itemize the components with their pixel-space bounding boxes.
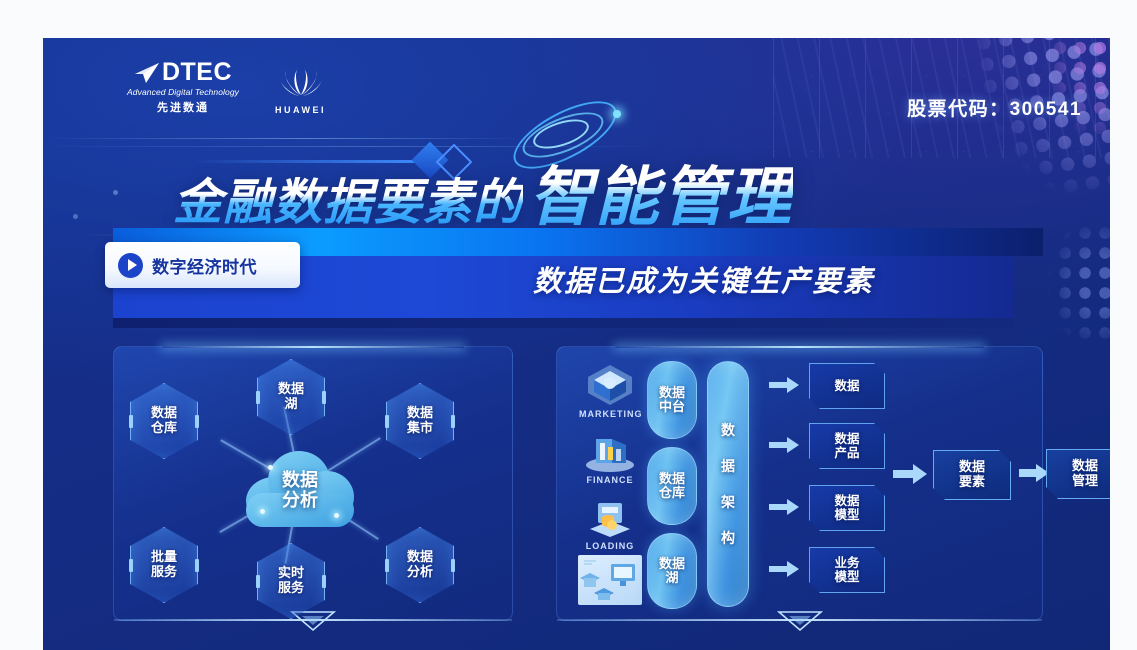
platform-label-line1: 数据 — [659, 385, 685, 400]
panel-chevron-icon — [777, 611, 823, 633]
node-label-line1: 实时 — [278, 565, 304, 580]
section-tag-label: 数字经济时代 — [152, 253, 257, 278]
spine-char-2: 据 — [721, 456, 735, 476]
dtec-logo: DTEC Advanced Digital Technology 先进数通 — [127, 60, 239, 115]
page-title: 金融数据要素的 智能管理 — [173, 146, 793, 238]
source-workstation[interactable] — [577, 555, 643, 607]
source-finance[interactable]: FINANCE — [579, 429, 641, 485]
dtec-tagline: Advanced Digital Technology — [127, 87, 239, 97]
node-label-line1: 数据 — [407, 405, 433, 420]
chain-label-line1: 数据 — [1072, 458, 1098, 473]
node-label-line1: 数据 — [407, 549, 433, 564]
presentation-slide: DTEC Advanced Digital Technology 先进数通 HU… — [43, 38, 1110, 650]
output-data-product[interactable]: 数据 产品 — [809, 423, 885, 469]
chain-label-line1: 数据 — [959, 459, 985, 474]
spine-char-1: 数 — [721, 420, 735, 440]
title-part-emphasis: 智能管理 — [529, 146, 793, 238]
source-caption: LOADING — [579, 541, 641, 551]
spine-char-3: 架 — [721, 492, 735, 512]
source-caption: MARKETING — [579, 409, 641, 419]
output-data[interactable]: 数据 — [809, 363, 885, 409]
output-business-model[interactable]: 业务 模型 — [809, 547, 885, 593]
output-label-line1: 数据 — [834, 494, 859, 508]
chain-box-data-management[interactable]: 数据 管理 — [1046, 449, 1110, 499]
banner-shadow — [113, 318, 1013, 328]
source-marketing[interactable]: MARKETING — [579, 363, 641, 419]
flow-arrow-icon — [769, 497, 799, 517]
output-data-model[interactable]: 数据 模型 — [809, 485, 885, 531]
panel-top-glow — [615, 346, 984, 348]
output-label-line1: 数据 — [834, 432, 859, 446]
platform-data-midend[interactable]: 数据 中台 — [647, 361, 697, 439]
cloud-data-analysis[interactable]: 数据 分析 — [238, 443, 362, 531]
output-label-line2: 模型 — [834, 508, 859, 522]
chain-box-data-element[interactable]: 数据 要素 — [933, 450, 1011, 500]
node-label-line2: 服务 — [151, 564, 177, 579]
platform-label-line2: 中台 — [659, 399, 685, 414]
dtec-wordmark: DTEC — [127, 60, 239, 85]
node-label-line2: 湖 — [284, 396, 297, 411]
panel-data-architecture: MARKETING FINANCE — [556, 346, 1043, 621]
node-batch-service[interactable]: 批量 服务 — [130, 527, 198, 603]
platform-label-line1: 数据 — [659, 471, 685, 486]
section-tag-pill[interactable]: 数字经济时代 — [105, 242, 300, 288]
platform-label-line1: 数据 — [659, 556, 685, 571]
node-label-line1: 数据 — [151, 405, 177, 420]
output-label-line2: 产品 — [834, 446, 859, 460]
flow-arrow-icon — [893, 462, 927, 486]
light-streak — [43, 138, 523, 139]
node-label-line1: 数据 — [278, 381, 304, 396]
marketing-cube-icon — [582, 363, 638, 407]
chain-label-line2: 要素 — [959, 474, 985, 489]
node-data-analysis[interactable]: 数据 分析 — [386, 527, 454, 603]
platform-label-line2: 湖 — [665, 570, 678, 585]
node-label-line1: 批量 — [151, 549, 177, 564]
node-data-lake[interactable]: 数据 湖 — [257, 359, 325, 435]
flow-arrow-icon — [769, 375, 799, 395]
huawei-logo: HUAWEI — [275, 67, 326, 115]
triangle-arrow-icon — [134, 61, 160, 85]
node-label-line2: 集市 — [407, 420, 433, 435]
title-area: 金融数据要素的 智能管理 — [43, 146, 1110, 226]
output-label-line2: 模型 — [834, 570, 859, 584]
cloud-label-line2: 分析 — [282, 490, 318, 510]
node-label-line2: 分析 — [407, 564, 433, 579]
title-part-primary: 金融数据要素的 — [173, 163, 523, 234]
platform-data-warehouse[interactable]: 数据 仓库 — [647, 447, 697, 525]
node-realtime-service[interactable]: 实时 服务 — [257, 543, 325, 619]
data-architecture-spine[interactable]: 数 据 架 构 — [707, 361, 749, 607]
output-label-line1: 数据 — [834, 379, 859, 393]
huawei-wordmark: HUAWEI — [275, 105, 326, 115]
finance-server-icon — [582, 429, 638, 473]
node-label-line2: 服务 — [278, 580, 304, 595]
play-icon — [118, 253, 143, 278]
dtec-chinese-name: 先进数通 — [127, 99, 239, 115]
stock-code-label: 股票代码：300541 — [907, 94, 1082, 121]
chain-label-line2: 管理 — [1072, 473, 1098, 488]
loading-storage-icon — [582, 495, 638, 539]
flow-arrow-icon — [769, 559, 799, 579]
node-data-warehouse[interactable]: 数据 仓库 — [130, 383, 198, 459]
logo-group: DTEC Advanced Digital Technology 先进数通 HU… — [127, 60, 326, 115]
node-label-line2: 仓库 — [151, 420, 177, 435]
platform-data-lake[interactable]: 数据 湖 — [647, 533, 697, 609]
node-data-mart[interactable]: 数据 集市 — [386, 383, 454, 459]
source-loading[interactable]: LOADING — [579, 495, 641, 551]
data-workstation-icon — [578, 555, 642, 605]
platform-label-line2: 仓库 — [659, 485, 685, 500]
huawei-petals-icon — [278, 67, 324, 97]
panel-data-analysis: 数据 仓库 数据 湖 数据 集市 批量 服务 实时 服务 数据 分析 — [113, 346, 513, 621]
cloud-label-line1: 数据 — [282, 470, 318, 490]
source-caption: FINANCE — [579, 475, 641, 485]
flow-arrow-icon — [1019, 462, 1049, 484]
output-label-line1: 业务 — [834, 556, 859, 570]
banner-headline: 数据已成为关键生产要素 — [533, 258, 874, 300]
dtec-name: DTEC — [162, 60, 232, 85]
spine-char-4: 构 — [721, 528, 735, 548]
flow-arrow-icon — [769, 435, 799, 455]
panel-top-glow — [162, 346, 464, 348]
section-banner: 数字经济时代 数据已成为关键生产要素 — [113, 228, 1043, 336]
